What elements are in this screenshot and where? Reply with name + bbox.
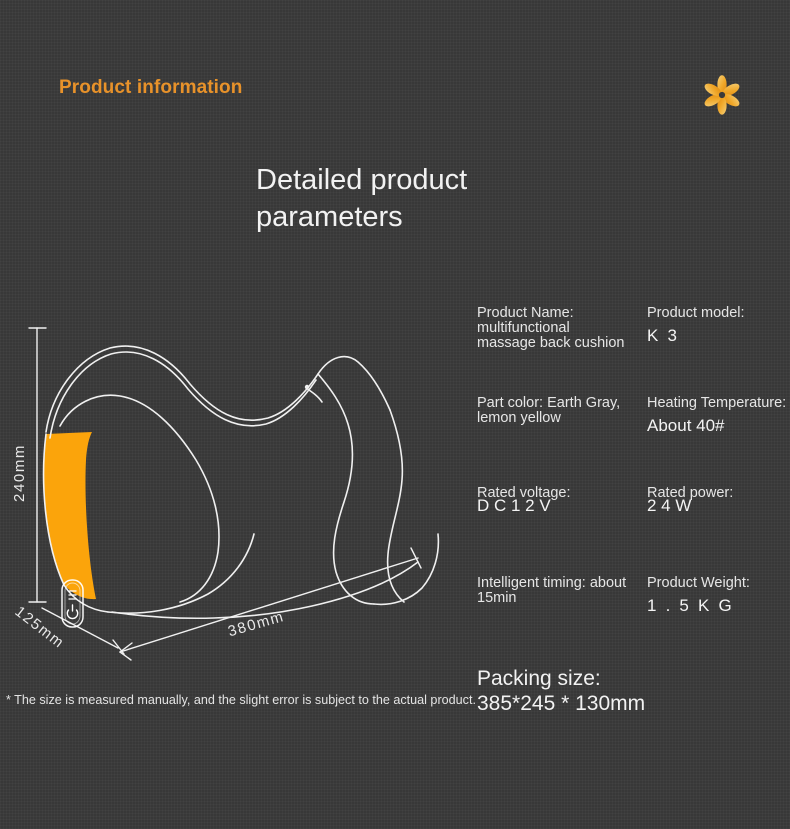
spec-rated-power: Rated power: 2 4 W [647,486,790,514]
product-information-page: Product information [0,0,790,829]
spec-product-weight: Product Weight: 1 . 5 K G [647,576,790,614]
dimension-label-height: 240mm [11,444,28,502]
spec-row: Rated voltage: D C 1 2 V Rated power: 2 … [477,486,787,576]
spec-label: Part color: Earth Gray, lemon yellow [477,396,627,426]
flower-icon [700,73,744,117]
packing-size-value: 385*245 * 130mm [477,692,777,715]
spec-label: Product Weight: [647,576,790,591]
spec-intelligent-timing: Intelligent timing: about 15min [477,576,627,606]
packing-size-block: Packing size: 385*245 * 130mm [477,668,777,715]
spec-heating-temperature: Heating Temperature: About 40# [647,396,790,434]
specification-grid: Product Name: multifunctional massage ba… [477,306,787,666]
spec-part-color: Part color: Earth Gray, lemon yellow [477,396,627,426]
spec-value: K 3 [647,327,790,344]
spec-label: Product model: [647,306,790,321]
spec-row: Part color: Earth Gray, lemon yellow Hea… [477,396,787,486]
spec-value: 1 . 5 K G [647,597,790,614]
product-side-panel [43,432,96,599]
spec-product-model: Product model: K 3 [647,306,790,344]
spec-label: Product Name: [477,306,627,321]
spec-row: Product Name: multifunctional massage ba… [477,306,787,396]
spec-value: multifunctional massage back cushion [477,321,627,351]
spec-row: Intelligent timing: about 15min Product … [477,576,787,666]
measurement-disclaimer: * The size is measured manually, and the… [6,692,484,708]
spec-label: Intelligent timing: about 15min [477,576,627,606]
product-illustration [0,300,450,670]
packing-size-label: Packing size: [477,668,777,690]
spec-label: Heating Temperature: [647,396,790,411]
page-title: Detailed product parameters [256,162,516,236]
spec-value: About 40# [647,417,790,434]
section-heading: Product information [59,77,242,99]
spec-rated-voltage: Rated voltage: D C 1 2 V [477,486,627,514]
spec-product-name: Product Name: multifunctional massage ba… [477,306,627,351]
